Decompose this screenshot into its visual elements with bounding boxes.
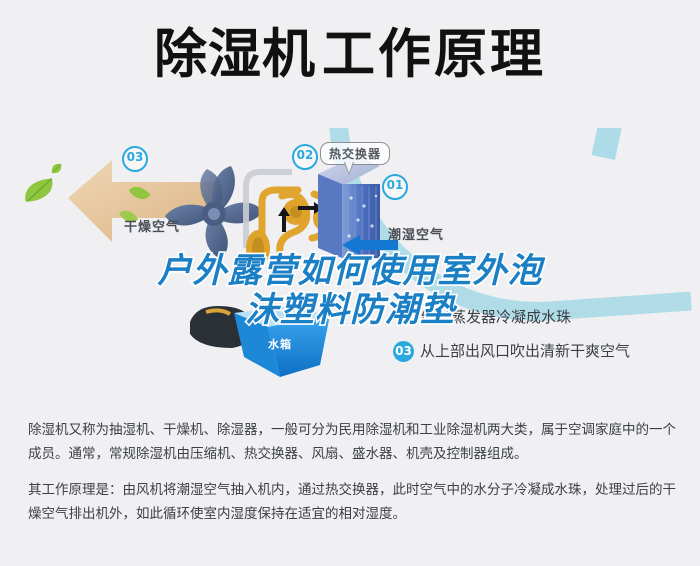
label-moist-air: 潮湿空气 [388, 224, 444, 243]
leaf-icon-small [50, 162, 63, 175]
badge-01-moist-air: 01 [382, 174, 408, 200]
callout-heat-exchanger: 热交换器 [320, 142, 390, 165]
badge-03-dry-air: 03 [122, 146, 148, 172]
article-paragraph-2: 其工作原理是：由风机将潮湿空气抽入机内，通过热交换器，此时空气中的水分子冷凝成水… [28, 478, 676, 526]
callout-tail-icon [344, 162, 354, 175]
page-title: 除湿机工作原理 [0, 28, 700, 81]
diagram-steps-list: 经过蒸发器冷凝成水珠 03从上部出风口吹出清新干爽空气 [393, 300, 693, 368]
badge-03-outlet: 03 [393, 341, 414, 362]
badge-02-heat-exchanger: 02 [292, 144, 318, 170]
water-tank-label: 水箱 [268, 336, 292, 352]
leaf-icon-large [19, 175, 58, 206]
page-root: 除湿机工作原理 [0, 0, 700, 566]
article-body: 除湿机又称为抽湿机、干燥机、除湿器，一般可分为民用除湿机和工业除湿机两大类，属于… [28, 418, 676, 536]
diagram-step-outlet: 03从上部出风口吹出清新干爽空气 [393, 334, 693, 368]
label-dry-air: 干燥空气 [124, 216, 180, 235]
page-title-part1: 除湿机 [154, 24, 316, 85]
article-paragraph-1: 除湿机又称为抽湿机、干燥机、除湿器，一般可分为民用除湿机和工业除湿机两大类，属于… [28, 418, 676, 466]
diagram-step-condense: 经过蒸发器冷凝成水珠 [393, 300, 693, 334]
diagram-step-outlet-text: 从上部出风口吹出清新干爽空气 [420, 342, 630, 360]
page-title-part2: 工作原理 [322, 24, 546, 85]
